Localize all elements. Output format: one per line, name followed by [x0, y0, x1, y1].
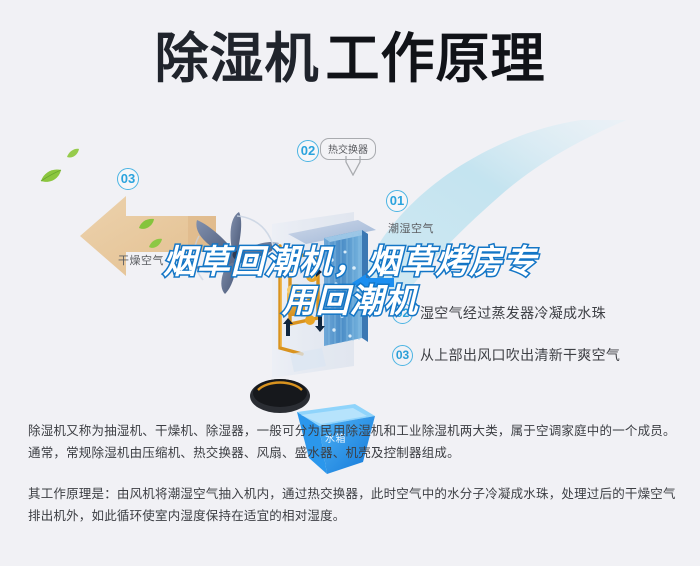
list-item: 03 从上部出风口吹出清新干爽空气	[392, 334, 692, 376]
leaf-icon	[138, 218, 155, 231]
body-paragraph-2-text: 其工作原理是：由风机将潮湿空气抽入机内，通过热交换器，此时空气中的水分子冷凝成水…	[28, 483, 676, 527]
body-paragraph-1: 除湿机又称为抽湿机、干燥机、除湿器，一般可分为民用除湿机和工业除湿机两大类，属于…	[28, 420, 676, 464]
overlay-headline: 烟草回潮机，烟草烤房专 用回潮机	[0, 242, 700, 320]
diagram-badge-01: 01	[386, 190, 408, 212]
humid-air-label: 潮湿空气	[388, 220, 434, 236]
overlay-headline-line-1: 烟草回潮机，烟草烤房专	[0, 242, 700, 281]
leaf-icon	[66, 148, 80, 159]
step-badge: 03	[392, 345, 413, 366]
step-text: 从上部出风口吹出清新干爽空气	[420, 345, 620, 365]
diagram-badge-03: 03	[117, 168, 139, 190]
callout-tail-icon	[344, 156, 362, 176]
body-paragraph-1-text: 除湿机又称为抽湿机、干燥机、除湿器，一般可分为民用除湿机和工业除湿机两大类，属于…	[28, 420, 676, 464]
diagram-badge-02: 02	[297, 140, 319, 162]
dehumidifier-infographic: 除湿机工作原理	[0, 0, 700, 566]
page-title: 除湿机工作原理	[0, 28, 700, 90]
title-band: 除湿机工作原理	[0, 0, 700, 118]
page-title-part-b: 工作原理	[326, 29, 546, 89]
page-title-part-a: 除湿机	[155, 29, 320, 89]
body-paragraph-2: 其工作原理是：由风机将潮湿空气抽入机内，通过热交换器，此时空气中的水分子冷凝成水…	[28, 483, 676, 527]
overlay-headline-line-2: 用回潮机	[0, 281, 700, 320]
leaf-icon	[40, 168, 62, 184]
